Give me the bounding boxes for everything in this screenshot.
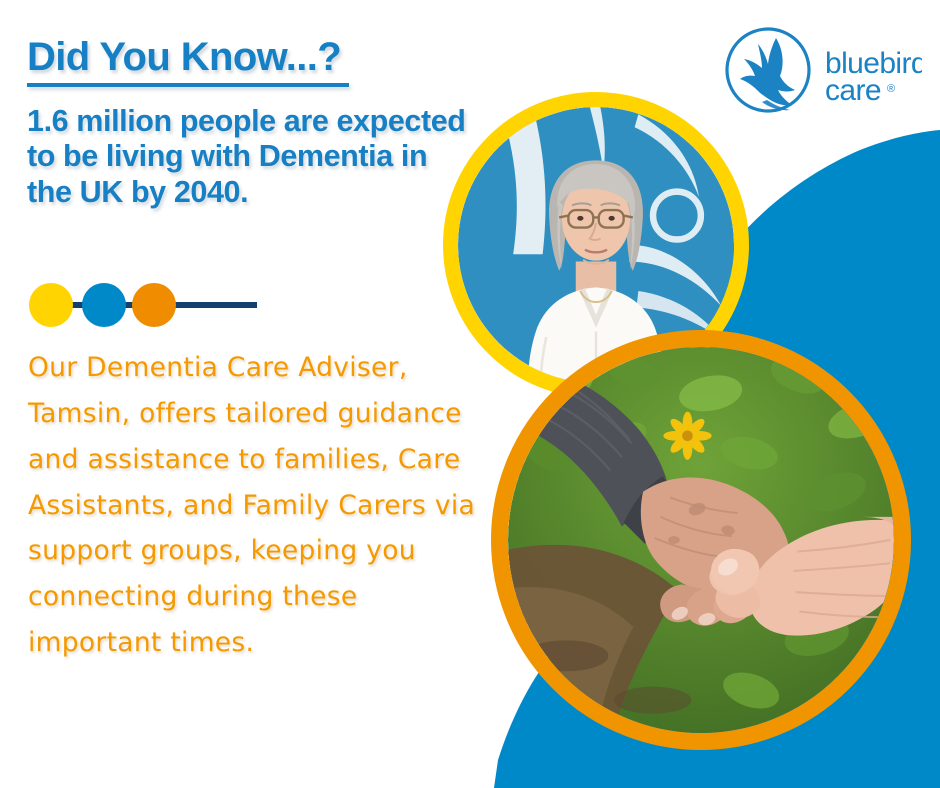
divider-dots (28, 282, 268, 328)
dot-blue-icon (82, 283, 126, 327)
bluebird-logo-icon: bluebird care ® (722, 26, 922, 114)
logo-text-care: care (825, 74, 881, 107)
statistic-text: 1.6 million people are expected to be li… (27, 104, 472, 210)
bluebird-care-logo: bluebird care ® (722, 26, 922, 114)
poster-canvas: Did You Know...? 1.6 million people are … (0, 0, 940, 788)
body-copy-text: Our Dementia Care Adviser, Tamsin, offer… (28, 345, 498, 666)
holding-hands-photo (491, 330, 911, 750)
dot-yellow-icon (29, 283, 73, 327)
hands-photo-inner (508, 347, 894, 733)
dot-orange-icon (132, 283, 176, 327)
headline-block: Did You Know...? (27, 36, 349, 87)
headline-underline (27, 83, 349, 87)
logo-registered-mark: ® (887, 83, 895, 95)
hands-illustration (508, 347, 894, 733)
page-title: Did You Know...? (27, 36, 349, 78)
